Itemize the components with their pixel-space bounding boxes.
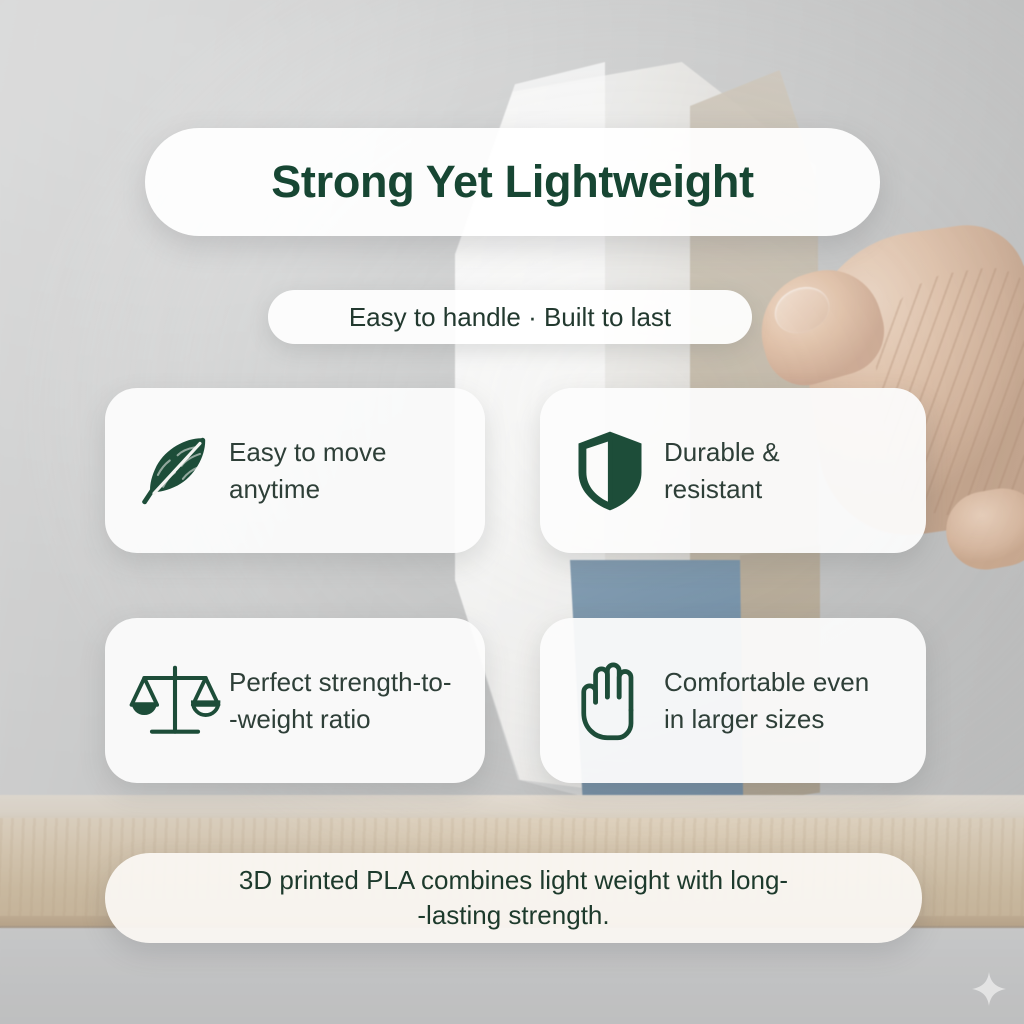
feature-card-strength-to-weight[interactable]: Perfect strength-to- -weight ratio (105, 618, 485, 783)
feather-icon (127, 423, 223, 519)
open-hand-icon (562, 653, 658, 749)
feature-card-label: Comfortable even in larger sizes (664, 664, 869, 737)
feature-card-label: Durable & resistant (664, 434, 780, 507)
subtitle-pill: Easy to handle · Built to last (268, 290, 752, 344)
feature-card-label: Perfect strength-to- -weight ratio (229, 664, 452, 737)
footer-caption: 3D printed PLA combines light weight wit… (239, 863, 788, 934)
feature-card-comfortable[interactable]: Comfortable even in larger sizes (540, 618, 926, 783)
feature-card-durable[interactable]: Durable & resistant (540, 388, 926, 553)
sparkle-icon (972, 972, 1006, 1006)
footer-pill: 3D printed PLA combines light weight wit… (105, 853, 922, 943)
scales-icon (127, 653, 223, 749)
feature-card-easy-to-move[interactable]: Easy to move anytime (105, 388, 485, 553)
title-pill: Strong Yet Lightweight (145, 128, 880, 236)
shield-icon (562, 423, 658, 519)
feature-card-grid: Easy to move anytime Durable & resistant (105, 388, 923, 783)
page-title: Strong Yet Lightweight (271, 156, 754, 208)
infographic-overlay: Strong Yet Lightweight Easy to handle · … (0, 0, 1024, 1024)
page-subtitle: Easy to handle · Built to last (349, 302, 671, 333)
feature-card-label: Easy to move anytime (229, 434, 387, 507)
